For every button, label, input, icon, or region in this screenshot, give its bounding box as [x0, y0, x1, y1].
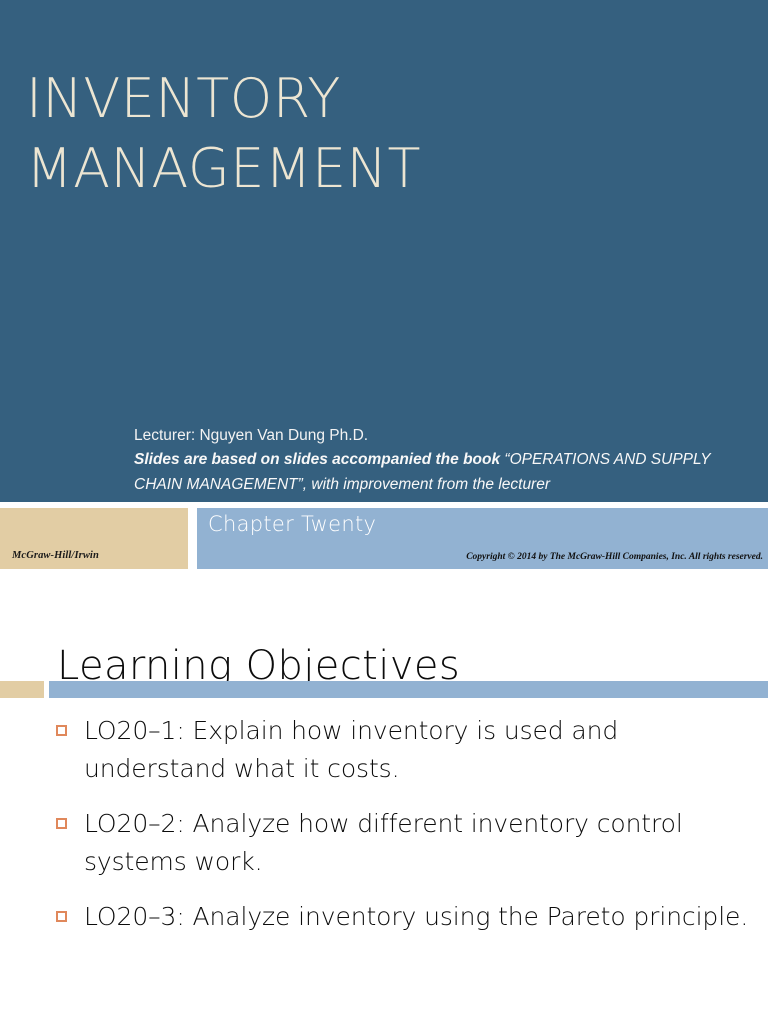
chapter-label: Chapter Twenty [208, 512, 376, 536]
footer-blue-block: Chapter Twenty Copyright © 2014 by The M… [197, 508, 768, 569]
accent-tan-block [0, 681, 44, 698]
title-slide-background: INVENTORY MANAGEMENT Lecturer: Nguyen Va… [0, 0, 768, 502]
learning-objectives-list: LO20–1: Explain how inventory is used an… [56, 712, 756, 954]
list-item-label: LO20–2: Analyze how different inventory … [84, 805, 756, 880]
title-line-2: MANAGEMENT [26, 134, 716, 204]
source-note: Slides are based on slides accompanied t… [134, 448, 754, 497]
title-line-1: INVENTORY [26, 67, 341, 130]
square-bullet-icon [56, 818, 67, 829]
page-title: INVENTORY MANAGEMENT [26, 64, 716, 204]
footer-tan-block: McGraw-Hill/Irwin [0, 508, 188, 569]
slide-title: INVENTORY MANAGEMENT Lecturer: Nguyen Va… [0, 0, 768, 576]
copyright-notice: Copyright © 2014 by The McGraw-Hill Comp… [466, 552, 763, 562]
slide-learning-objectives: Learning Objectives LO20–1: Explain how … [0, 576, 768, 1024]
list-item: LO20–1: Explain how inventory is used an… [56, 712, 756, 787]
accent-divider-row [0, 681, 768, 698]
list-item: LO20–2: Analyze how different inventory … [56, 805, 756, 880]
list-item-label: LO20–3: Analyze inventory using the Pare… [84, 898, 756, 936]
slide-deck: INVENTORY MANAGEMENT Lecturer: Nguyen Va… [0, 0, 768, 1024]
square-bullet-icon [56, 725, 67, 736]
square-bullet-icon [56, 911, 67, 922]
accent-blue-bar [49, 681, 768, 698]
list-item-label: LO20–1: Explain how inventory is used an… [84, 712, 756, 787]
lecturer-block: Lecturer: Nguyen Van Dung Ph.D. Slides a… [134, 424, 754, 497]
publisher-logo: McGraw-Hill/Irwin [12, 550, 99, 561]
title-slide-footer: McGraw-Hill/Irwin Chapter Twenty Copyrig… [0, 508, 768, 569]
list-item: LO20–3: Analyze inventory using the Pare… [56, 898, 756, 936]
lecturer-name: Lecturer: Nguyen Van Dung Ph.D. [134, 424, 754, 448]
source-note-bold: Slides are based on slides accompanied t… [134, 451, 504, 468]
